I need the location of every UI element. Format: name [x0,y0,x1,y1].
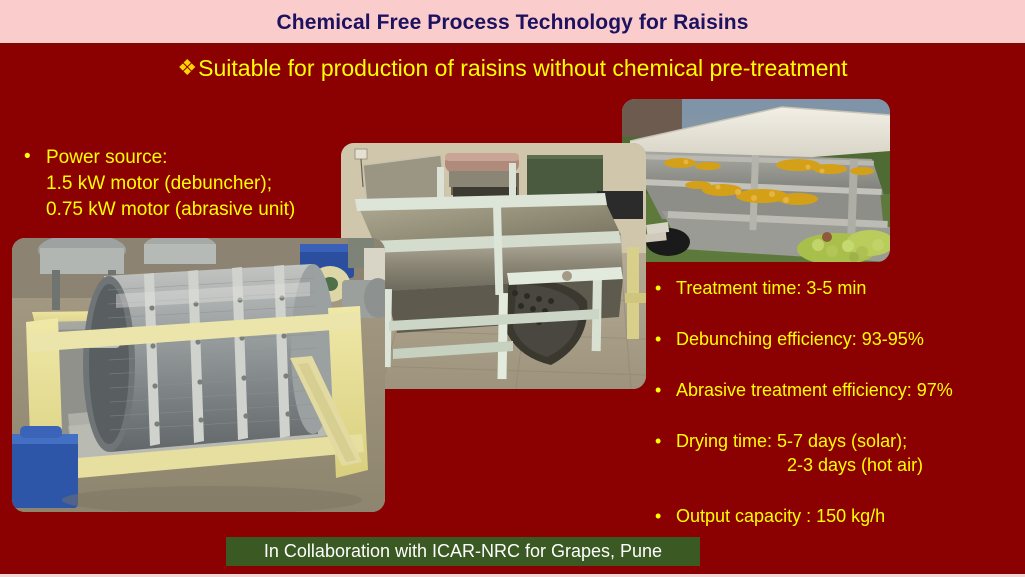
solar-dryer-illustration [622,99,890,262]
bullet-icon: • [655,504,661,528]
specs-list: • Treatment time: 3-5 min • Debunching e… [652,276,1022,528]
spec-debunching-efficiency-text: Debunching efficiency: 93-95% [676,329,924,349]
bullet-icon: • [655,429,661,453]
spec-abrasive-efficiency: • Abrasive treatment efficiency: 97% [652,378,1022,402]
spec-output-capacity-text: Output capacity : 150 kg/h [676,506,885,526]
photo-solar-dryer-trays [622,99,890,262]
power-source-block: • Power source: 1.5 kW motor (debuncher)… [20,145,350,223]
debuncher-illustration [12,238,385,512]
bullet-icon: • [655,378,661,402]
spec-debunching-efficiency: • Debunching efficiency: 93-95% [652,327,1022,351]
spec-treatment-time-text: Treatment time: 3-5 min [676,278,866,298]
power-source-line-1: • Power source: [20,145,350,171]
bullet-icon: • [655,276,661,300]
subtitle-text: Suitable for production of raisins witho… [198,55,847,81]
spec-drying-time-text: Drying time: 5-7 days (solar); [676,431,907,451]
power-source-line-2: 1.5 kW motor (debuncher); [20,171,350,197]
slide-canvas: Chemical Free Process Technology for Rai… [0,0,1025,577]
bullet-icon: • [24,144,31,170]
collaboration-banner: In Collaboration with ICAR-NRC for Grape… [226,537,700,566]
spec-drying-time-subtext: 2-3 days (hot air) [676,453,1022,477]
power-source-line-3: 0.75 kW motor (abrasive unit) [20,197,350,223]
page-title: Chemical Free Process Technology for Rai… [0,11,1025,35]
power-source-label: Power source: [46,147,167,168]
abrasive-unit-illustration [341,143,646,389]
header-divider [0,43,1025,45]
spec-abrasive-efficiency-text: Abrasive treatment efficiency: 97% [676,380,953,400]
spec-output-capacity: • Output capacity : 150 kg/h [652,504,1022,528]
power-source-motor-2: 0.75 kW motor (abrasive unit) [46,199,295,220]
photo-abrasive-treatment-unit [341,143,646,389]
subtitle-row: ❖Suitable for production of raisins with… [0,55,1025,82]
spec-drying-time: • Drying time: 5-7 days (solar); 2-3 day… [652,429,1022,477]
spec-treatment-time: • Treatment time: 3-5 min [652,276,1022,300]
diamond-bullet-icon: ❖ [177,55,197,80]
power-source-motor-1: 1.5 kW motor (debuncher); [46,173,272,194]
photo-drum-debuncher [12,238,385,512]
bullet-icon: • [655,327,661,351]
